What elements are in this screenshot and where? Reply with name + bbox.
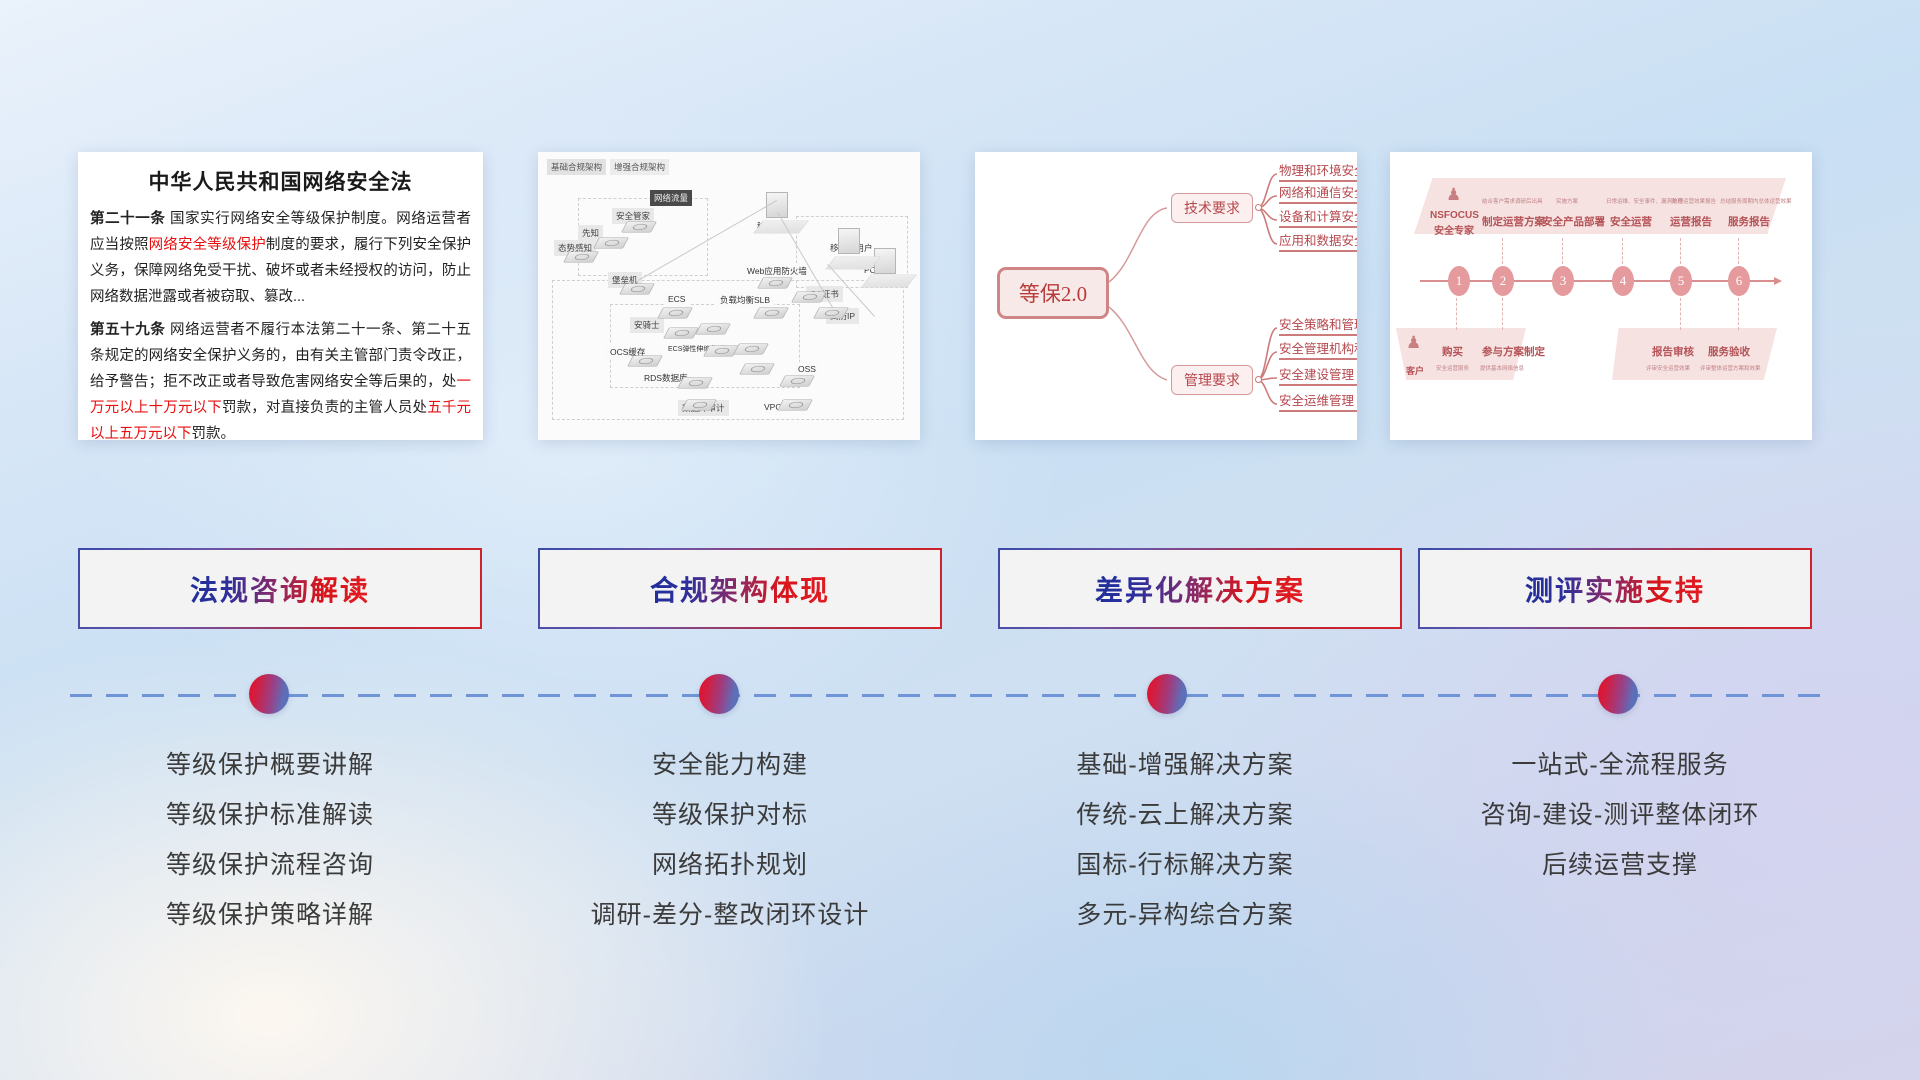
header-label-1: 法规咨询解读 — [190, 569, 370, 609]
flow-bottom-title-1: 购买 — [1442, 344, 1463, 359]
law-article-59-text-b: 罚款，对直接负责的主管人员处 — [222, 400, 427, 416]
timeline-dot-3 — [1147, 674, 1187, 714]
flow-step-1: 1 — [1448, 266, 1470, 296]
cloud-node-antiddos — [813, 307, 849, 318]
law-article-59: 第五十九条 网络运营者不履行本法第二十一条、第二十五条规定的网络安全保护义务的，… — [90, 317, 471, 440]
flow-expert-name: NSFOCUS — [1430, 210, 1479, 221]
law-article-59-text-c: 罚款。 — [192, 426, 236, 440]
flow-connector-b1 — [1456, 298, 1457, 330]
header-box-assessment-support[interactable]: 测评实施支持 — [1418, 548, 1812, 629]
header-box-inner-2: 合规架构体现 — [540, 550, 940, 627]
header-box-inner-4: 测评实施支持 — [1420, 550, 1810, 627]
flow-top-sub-5: 总结服务周期内总体运营效果 — [1720, 197, 1792, 205]
header-box-inner-3: 差异化解决方案 — [1000, 550, 1400, 627]
header-label-4: 测评实施支持 — [1525, 569, 1705, 609]
flow-timeline-axis — [1420, 280, 1775, 282]
card-cloud-architecture: 基础合规架构 增强合规架构 网络流量 安全管家 先知 态势感知 堡垒机 移动端_… — [538, 152, 920, 440]
flow-connector-5 — [1680, 238, 1681, 264]
flow-customer-role: 客户 — [1406, 364, 1424, 377]
mindmap-branch-management: 管理要求 — [1171, 365, 1253, 395]
timeline-dot-4 — [1598, 674, 1638, 714]
law-article-59-label: 第五十九条 — [90, 322, 165, 338]
cloud-node-ocs — [627, 355, 663, 366]
card-service-flow: ♟ NSFOCUS 安全专家 结合客户需求调研后出具 实施方案 日常运维、安全事… — [1390, 152, 1812, 440]
cloud-node-waf — [757, 277, 793, 288]
header-box-inner-1: 法规咨询解读 — [80, 550, 480, 627]
cloud-node-ca — [791, 291, 827, 302]
cloud-architecture-diagram: 基础合规架构 增强合规架构 网络流量 安全管家 先知 态势感知 堡垒机 移动端_… — [538, 152, 920, 440]
list-item: 国标-行标解决方案 — [975, 840, 1395, 890]
flow-top-title-5: 服务报告 — [1728, 214, 1770, 229]
flow-bottom-title-3: 报告审核 — [1652, 344, 1694, 359]
list-item: 一站式-全流程服务 — [1420, 740, 1820, 790]
timeline-dot-1 — [249, 674, 289, 714]
cloud-label-oss: OSS — [794, 362, 820, 376]
mindmap-leaf-physical: 物理和环境安全 — [1279, 160, 1357, 182]
mindmap-leaf-construction: 安全建设管理 — [1279, 364, 1354, 386]
mindmap-diagram: 等保2.0 技术要求 管理要求 物理和环境安全 网络和通信安全 设备和计算安全 … — [975, 152, 1357, 440]
mindmap-root-node: 等保2.0 — [997, 267, 1109, 319]
service-flow-diagram: ♟ NSFOCUS 安全专家 结合客户需求调研后出具 实施方案 日常运维、安全事… — [1390, 152, 1812, 440]
list-item: 后续运营支撑 — [1420, 840, 1820, 890]
cloud-node-rds — [677, 377, 713, 388]
list-item: 网络拓扑规划 — [520, 840, 940, 890]
mindmap-leaf-policy: 安全策略和管理制度 — [1279, 314, 1357, 336]
flow-top-title-2: 安全产品部署 — [1542, 214, 1605, 229]
mindmap-dot-management — [1255, 376, 1262, 383]
list-item: 等级保护对标 — [520, 790, 940, 840]
list-item: 咨询-建设-测评整体闭环 — [1420, 790, 1820, 840]
mindmap-leaf-org: 安全管理机构和人员 — [1279, 338, 1357, 360]
flow-bottom-sub-2: 提供基本网络信息 — [1480, 364, 1524, 372]
cloud-node-dbaudit — [681, 399, 717, 410]
cloud-label-ecs: ECS — [664, 292, 689, 306]
cloud-label-anqishi: 安骑士 — [630, 317, 664, 333]
mindmap-leaf-network: 网络和通信安全 — [1279, 182, 1357, 204]
cloud-node-ecs5 — [739, 363, 775, 374]
card-mindmap-dengbao: 等保2.0 技术要求 管理要求 物理和环境安全 网络和通信安全 设备和计算安全 … — [975, 152, 1357, 440]
flow-connector-b6 — [1738, 298, 1739, 330]
law-body: 第二十一条 国家实行网络安全等级保护制度。网络运营者应当按照网络安全等级保护制度… — [78, 206, 483, 440]
flow-connector-6 — [1738, 238, 1739, 264]
cloud-node-ecs — [657, 307, 693, 318]
flow-bottom-title-2: 参与方案制定 — [1482, 344, 1545, 359]
column-list-2: 安全能力构建 等级保护对标 网络拓扑规划 调研-差分-整改闭环设计 — [520, 740, 940, 940]
list-item: 调研-差分-整改闭环设计 — [520, 890, 940, 940]
header-box-differentiated-solution[interactable]: 差异化解决方案 — [998, 548, 1402, 629]
flow-top-title-4: 运营报告 — [1670, 214, 1712, 229]
cloud-label-slb: 负载均衡SLB — [716, 292, 774, 308]
cloud-plat-3 — [861, 275, 917, 288]
flow-top-title-1: 制定运营方案 — [1482, 214, 1545, 229]
card-cybersecurity-law: 中华人民共和国网络安全法 第二十一条 国家实行网络安全等级保护制度。网络运营者应… — [78, 152, 483, 440]
flow-top-sub-4: 阶段运营效果报告 — [1672, 197, 1716, 205]
list-item: 安全能力构建 — [520, 740, 940, 790]
mindmap-dot-technical — [1255, 204, 1262, 211]
flow-top-sub-2: 实施方案 — [1556, 197, 1578, 205]
mindmap-leaf-device: 设备和计算安全 — [1279, 206, 1357, 228]
expert-person-icon: ♟ — [1446, 186, 1461, 203]
mindmap-leaf-ops: 安全运维管理 — [1279, 390, 1354, 412]
flow-expert-role: 安全专家 — [1434, 222, 1474, 237]
cloud-server-mobile-user — [838, 228, 860, 254]
timeline-dot-2 — [699, 674, 739, 714]
cloud-node-sa — [563, 251, 599, 262]
flow-bottom-sub-4: 评审整体运营方案和效果 — [1700, 364, 1761, 372]
law-article-21-label: 第二十一条 — [90, 211, 165, 227]
flow-bottom-title-4: 服务验收 — [1708, 344, 1750, 359]
cloud-node-vpc — [777, 399, 813, 410]
flow-connector-2 — [1502, 238, 1503, 264]
list-item: 多元-异构综合方案 — [975, 890, 1395, 940]
flow-step-3: 3 — [1552, 266, 1574, 296]
reference-cards-row: 中华人民共和国网络安全法 第二十一条 国家实行网络安全等级保护制度。网络运营者应… — [0, 152, 1920, 442]
header-label-2: 合规架构体现 — [650, 569, 830, 609]
cloud-tab-basic: 基础合规架构 — [547, 159, 606, 175]
mindmap-branch-technical: 技术要求 — [1171, 193, 1253, 223]
list-item: 等级保护策略详解 — [70, 890, 470, 940]
cloud-node-slb — [753, 307, 789, 318]
law-title: 中华人民共和国网络安全法 — [78, 152, 483, 206]
flow-top-title-3: 安全运营 — [1610, 214, 1652, 229]
header-box-compliance-architecture[interactable]: 合规架构体现 — [538, 548, 942, 629]
flow-connector-3 — [1562, 238, 1563, 264]
column-list-3: 基础-增强解决方案 传统-云上解决方案 国标-行标解决方案 多元-异构综合方案 — [975, 740, 1395, 940]
flow-connector-b2 — [1502, 298, 1503, 330]
cloud-node-xianzhi — [593, 237, 629, 248]
cloud-node-ecs4 — [733, 343, 769, 354]
cloud-arch-tabs: 基础合规架构 增强合规架构 — [547, 159, 669, 175]
flow-top-sub-1: 结合客户需求调研后出具 — [1482, 197, 1543, 205]
flow-step-4: 4 — [1612, 266, 1634, 296]
law-article-21: 第二十一条 国家实行网络安全等级保护制度。网络运营者应当按照网络安全等级保护制度… — [90, 206, 471, 310]
flow-bottom-sub-3: 评审安全运营效果 — [1646, 364, 1690, 372]
header-label-3: 差异化解决方案 — [1095, 569, 1305, 609]
flow-step-5: 5 — [1670, 266, 1692, 296]
cloud-node-oss — [779, 375, 815, 386]
cloud-label-traffic: 网络流量 — [650, 190, 692, 206]
cloud-tab-enhanced: 增强合规架构 — [610, 159, 669, 175]
cloud-node-ecs2 — [695, 323, 731, 334]
list-item: 等级保护概要讲解 — [70, 740, 470, 790]
column-list-4: 一站式-全流程服务 咨询-建设-测评整体闭环 后续运营支撑 — [1420, 740, 1820, 890]
flow-connector-b5 — [1680, 298, 1681, 330]
list-item: 等级保护标准解读 — [70, 790, 470, 840]
list-item: 基础-增强解决方案 — [975, 740, 1395, 790]
flow-step-6: 6 — [1728, 266, 1750, 296]
column-list-1: 等级保护概要讲解 等级保护标准解读 等级保护流程咨询 等级保护策略详解 — [70, 740, 470, 940]
mindmap-leaf-application: 应用和数据安全 — [1279, 230, 1357, 252]
cloud-node-bastion — [619, 283, 655, 294]
cloud-node-anqishi — [663, 327, 699, 338]
law-article-21-highlight: 网络安全等级保护 — [149, 237, 266, 253]
cloud-node-butler — [621, 221, 657, 232]
timeline-dashed-line — [70, 694, 1820, 697]
flow-step-2: 2 — [1492, 266, 1514, 296]
flow-band-customer-right — [1612, 328, 1777, 380]
header-box-regulation-consulting[interactable]: 法规咨询解读 — [78, 548, 482, 629]
flow-bottom-sub-1: 安全运营服务 — [1436, 364, 1469, 372]
list-item: 传统-云上解决方案 — [975, 790, 1395, 840]
customer-person-icon: ♟ — [1406, 334, 1421, 351]
flow-connector-4 — [1622, 238, 1623, 264]
list-item: 等级保护流程咨询 — [70, 840, 470, 890]
